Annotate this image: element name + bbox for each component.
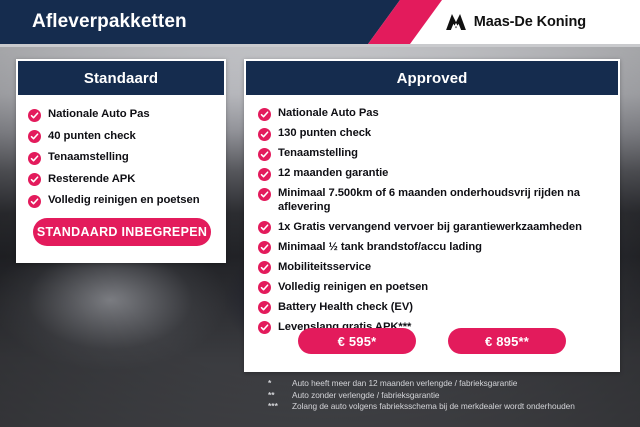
footnote-marker: *** (268, 401, 292, 413)
list-item: Volledig reinigen en poetsen (28, 193, 226, 208)
list-item: Minimaal ½ tank brandstof/accu lading (258, 240, 620, 255)
list-item: Mobiliteitsservice (258, 260, 620, 275)
check-circle-icon (258, 168, 271, 181)
feature-label: Minimaal ½ tank brandstof/accu lading (278, 240, 482, 254)
check-circle-icon (28, 109, 41, 122)
feature-label: 40 punten check (48, 129, 136, 143)
price-button-895[interactable]: € 895** (448, 328, 566, 354)
check-circle-icon (258, 108, 271, 121)
m-logo-mark-icon (445, 13, 467, 31)
list-item: 1x Gratis vervangend vervoer bij garanti… (258, 220, 620, 235)
footnote-row: ** Auto zonder verlengde / fabrieksgaran… (268, 390, 628, 402)
list-item: Tenaamstelling (258, 146, 620, 161)
package-card-standaard: Standaard Nationale Auto Pas 40 punten c… (16, 59, 226, 263)
card-title: Approved (397, 70, 468, 87)
check-circle-icon (258, 148, 271, 161)
check-circle-icon (28, 130, 41, 143)
card-header-standaard: Standaard (18, 61, 224, 95)
footnote-marker: * (268, 378, 292, 390)
check-circle-icon (258, 281, 271, 294)
footnotes: * Auto heeft meer dan 12 maanden verleng… (268, 378, 628, 413)
list-item: 40 punten check (28, 129, 226, 144)
footnote-text: Auto heeft meer dan 12 maanden verlengde… (292, 378, 517, 390)
feature-label: Battery Health check (EV) (278, 300, 413, 314)
footnote-text: Zolang de auto volgens fabrieksschema bi… (292, 401, 575, 413)
feature-list-standaard: Nationale Auto Pas 40 punten check Tenaa… (16, 95, 226, 208)
list-item: 12 maanden garantie (258, 166, 620, 181)
footnote-row: *** Zolang de auto volgens fabrieksschem… (268, 401, 628, 413)
check-circle-icon (28, 195, 41, 208)
check-circle-icon (28, 173, 41, 186)
check-circle-icon (258, 301, 271, 314)
price-button-595[interactable]: € 595* (298, 328, 416, 354)
list-item: Minimaal 7.500km of 6 maanden onderhouds… (258, 186, 620, 214)
card-title: Standaard (84, 70, 158, 87)
list-item: 130 punten check (258, 126, 620, 141)
footnote-row: * Auto heeft meer dan 12 maanden verleng… (268, 378, 628, 390)
feature-list-approved: Nationale Auto Pas 130 punten check Tena… (244, 95, 620, 334)
check-circle-icon (28, 152, 41, 165)
check-circle-icon (258, 241, 271, 254)
feature-label: Mobiliteitsservice (278, 260, 371, 274)
feature-label: 130 punten check (278, 126, 371, 140)
check-circle-icon (258, 188, 271, 201)
feature-label: Nationale Auto Pas (278, 106, 379, 120)
list-item: Nationale Auto Pas (28, 107, 226, 122)
check-circle-icon (258, 128, 271, 141)
list-item: Resterende APK (28, 172, 226, 187)
footnote-text: Auto zonder verlengde / fabrieksgarantie (292, 390, 439, 402)
package-card-approved: Approved Nationale Auto Pas 130 punten c… (244, 59, 620, 372)
brand-logo: Maas-De Koning (445, 0, 586, 44)
feature-label: 1x Gratis vervangend vervoer bij garanti… (278, 220, 582, 234)
check-circle-icon (258, 261, 271, 274)
list-item: Nationale Auto Pas (258, 106, 620, 121)
feature-label: Minimaal 7.500km of 6 maanden onderhouds… (278, 186, 620, 214)
feature-label: Tenaamstelling (278, 146, 358, 160)
list-item: Tenaamstelling (28, 150, 226, 165)
slide-root: Afleverpakketten Maas-De Koning Standaar… (0, 0, 640, 427)
card-header-approved: Approved (246, 61, 618, 95)
header-underline (0, 44, 640, 47)
footnote-marker: ** (268, 390, 292, 402)
page-header: Afleverpakketten Maas-De Koning (0, 0, 640, 44)
brand-name: Maas-De Koning (474, 14, 586, 30)
feature-label: Volledig reinigen en poetsen (278, 280, 428, 294)
feature-label: 12 maanden garantie (278, 166, 388, 180)
feature-label: Volledig reinigen en poetsen (48, 193, 200, 207)
list-item: Volledig reinigen en poetsen (258, 280, 620, 295)
feature-label: Nationale Auto Pas (48, 107, 150, 121)
page-title: Afleverpakketten (32, 0, 187, 44)
feature-label: Resterende APK (48, 172, 135, 186)
standaard-inbegrepen-button[interactable]: STANDAARD INBEGREPEN (33, 218, 211, 246)
check-circle-icon (258, 221, 271, 234)
list-item: Battery Health check (EV) (258, 300, 620, 315)
feature-label: Tenaamstelling (48, 150, 129, 164)
price-button-row: € 595* € 895** (244, 328, 620, 354)
